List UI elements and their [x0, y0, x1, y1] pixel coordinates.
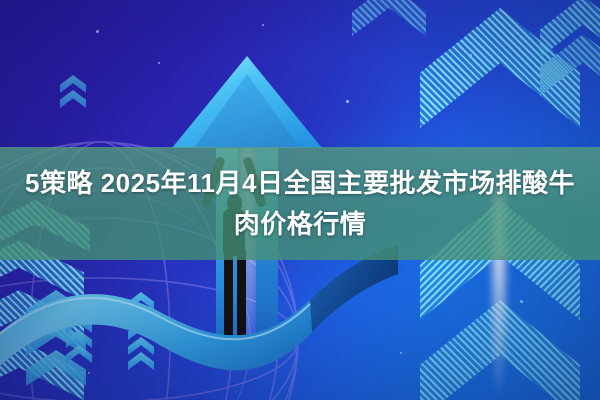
page-title-text: 5策略 2025年11月4日全国主要批发市场排酸牛肉价格行情: [18, 163, 582, 245]
banner-image: 5策略 2025年11月4日全国主要批发市场排酸牛肉价格行情: [0, 0, 600, 400]
page-title: 5策略 2025年11月4日全国主要批发市场排酸牛肉价格行情: [0, 147, 600, 260]
